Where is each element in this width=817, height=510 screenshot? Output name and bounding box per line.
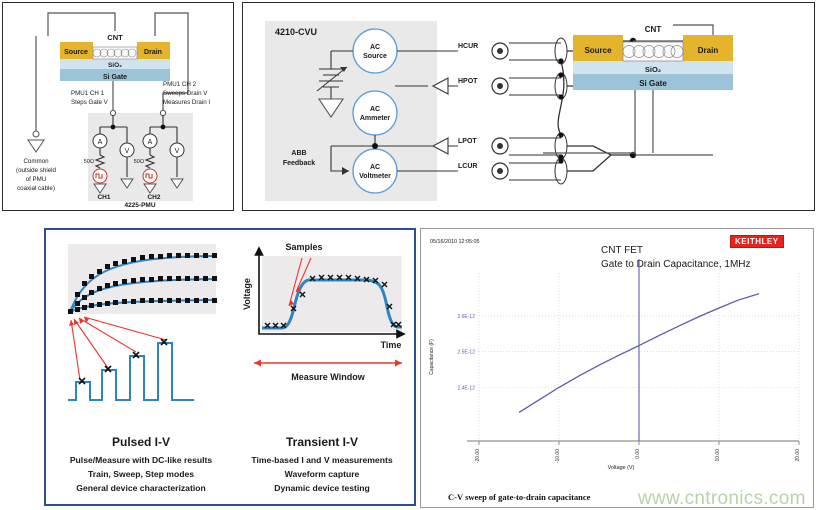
cvu-diagram-svg: 4210-CVU AC Source AC Ammeter AC Voltmet… [243,3,814,210]
common-label-4: coaxial cable) [17,185,55,192]
transient-y-axis-label: Voltage [242,278,252,310]
chart-x-axis-label: Voltage (V) [608,465,635,471]
terminal-hpot-label: HPOT [458,78,478,85]
transient-plot-bg [262,256,402,332]
chart-x-tick: -10.00 [555,449,561,463]
resistor-ch1-label: 50Ω [84,159,94,165]
pulse-source-ch1 [93,169,107,183]
resistor-ch2-label: 50Ω [134,159,144,165]
drain-label: Drain [144,49,162,56]
sio2-label: SiO₂ [108,62,122,69]
cv-chart-svg: 05/16/2010 12:05:05 CNT FET Gate to Drai… [421,229,813,479]
terminal-lpot-label: LPOT [458,138,477,145]
sio2-label-right: SiO₂ [645,65,661,74]
pulse-train [68,343,194,400]
abb-feedback-line1: ABB [291,150,306,157]
chart-y-tick: 2.6E-12 [457,314,475,320]
ac-voltmeter-line1: AC [370,164,380,171]
cnt-label-right: CNT [645,25,662,34]
sample-arrows [69,317,166,380]
cnt-label: CNT [107,33,123,42]
ac-ammeter-line2: Ammeter [360,115,391,122]
ch1-note-line1: PMU1 CH 1 [71,90,105,97]
pulsed-transient-panel: Samples Voltage Time Measure Window Puls… [44,228,416,506]
ac-source-block [353,29,397,73]
ch2-label: CH2 [147,194,160,201]
si-gate-label-right: Si Gate [639,79,667,88]
samples-label: Samples [285,242,322,252]
ac-voltmeter-line2: Voltmeter [359,173,391,180]
pulse-source-ch2 [143,169,157,183]
ch1-label: CH1 [97,194,110,201]
chart-caption: C-V sweep of gate-to-drain capacitance [448,492,590,502]
transient-iv-title: Transient I-V [286,435,358,449]
chart-x-tick-labels: -20.00-10.000.0010.0020.00 [475,441,801,463]
ac-ammeter-block [353,91,397,135]
common-label-2: (outside shield [16,167,56,174]
measure-window-label: Measure Window [291,372,365,382]
watermark: www.cntronics.com [638,488,806,510]
pulsed-iv-line1: Pulse/Measure with DC-like results [70,455,213,465]
cvu-enclosure [265,21,437,201]
ac-ammeter-line1: AC [370,106,380,113]
ac-source-line1: AC [370,44,380,51]
transient-iv-line1: Time-based I and V measurements [251,455,392,465]
voltmeter-ch1-label: V [125,148,130,155]
junction-ch1 [111,125,116,130]
drain-label-right: Drain [698,46,719,55]
ac-source-line2: Source [363,53,387,60]
ch2-note-line1: PMU1 CH 2 [163,81,197,88]
chart-timestamp: 05/16/2010 12:05:05 [430,239,479,245]
cvu-connection-panel: 4210-CVU AC Source AC Ammeter AC Voltmet… [242,2,815,211]
source-label-right: Source [584,46,612,55]
pulsed-iv-title: Pulsed I-V [112,435,170,449]
transient-x-axis-label: Time [381,340,402,350]
pmu-connection-panel: CNT Source Drain SiO₂ Si Gate Common (ou… [2,2,234,211]
chart-x-tick: 10.00 [715,449,721,462]
voltmeter-ch2-label: V [175,148,180,155]
ammeter-ch1-label: A [98,139,103,146]
common-label-3: of PMU [26,176,47,183]
pulsed-transient-svg: Samples Voltage Time Measure Window Puls… [46,230,414,504]
terminal-hcur-label: HCUR [458,43,478,50]
abb-feedback-line2: Feedback [283,160,315,167]
chart-y-tick-labels: 2.6E-122.5E-122.4E-12 [457,314,475,391]
chart-title: CNT FET [601,245,643,256]
pmu-model-label: 4225-PMU [124,202,155,209]
cvu-model-label: 4210-CVU [275,27,317,37]
ac-voltmeter-block [353,149,397,193]
keithley-logo: KEITHLEY [730,235,784,248]
junction-abb [372,143,378,149]
cnt-tube [93,47,137,59]
pulsed-iv-line3: General device characterization [76,483,205,493]
common-label-1: Common [23,158,49,165]
chart-y-tick: 2.5E-12 [457,350,475,356]
si-gate-label: Si Gate [103,74,127,81]
chart-y-axis-label: Capacitance (F) [429,339,435,375]
ch1-note-line2: Steps Gate V [71,99,109,106]
chart-x-tick: 0.00 [635,449,641,459]
ground-symbol-common [28,140,44,152]
chart-x-tick: 20.00 [795,449,801,462]
cv-sweep-chart-panel: 05/16/2010 12:05:05 CNT FET Gate to Drai… [420,228,814,508]
chart-subtitle: Gate to Drain Capacitance, 1MHz [601,259,751,270]
source-label: Source [64,49,88,56]
chart-x-tick: -20.00 [475,449,481,463]
cnt-device-right: CNT Source Drain SiO₂ Si Gate [573,25,733,153]
ammeter-ch2-label: A [148,139,153,146]
ch2-note-line3: Measures Drain I [163,99,210,106]
terminal-lcur-label: LCUR [458,163,477,170]
measure-window-arrow [254,360,402,367]
ch2-note-line2: Sweeps Drain V [163,90,208,97]
chart-y-tick: 2.4E-12 [457,385,475,391]
transient-iv-line3: Dynamic device testing [274,483,370,493]
junction-ch2 [161,125,166,130]
pmu-diagram-svg: CNT Source Drain SiO₂ Si Gate Common (ou… [3,3,233,210]
transient-iv-line2: Waveform capture [285,469,360,479]
pulsed-iv-line2: Train, Sweep, Step modes [88,469,194,479]
